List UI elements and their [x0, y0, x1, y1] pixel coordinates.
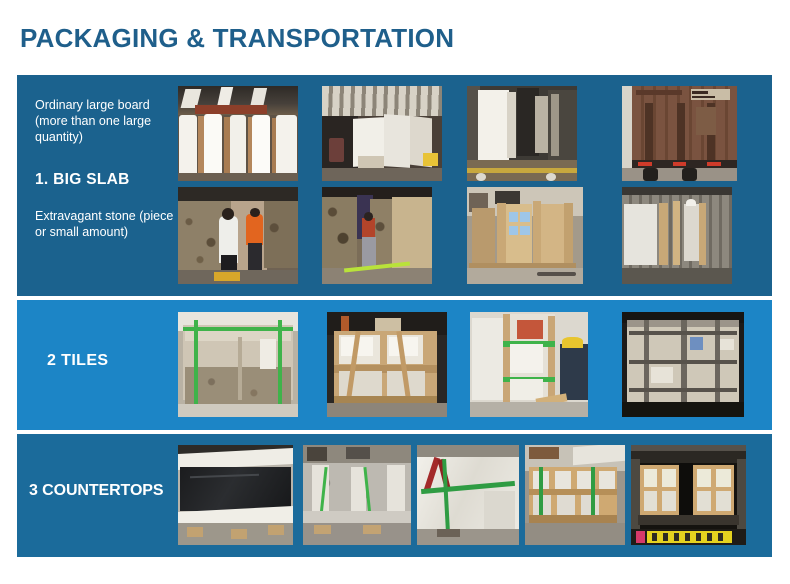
photo-big-slab-warehouse	[178, 86, 298, 181]
photo-big-slab-workers-inspect	[178, 187, 298, 284]
photo-big-slab-wooden-crates	[467, 187, 583, 284]
photo-countertops-wooden-crates	[525, 445, 625, 545]
section-countertops: 3 COUNTERTOPS	[17, 434, 772, 557]
section-big-slab: Ordinary large board (more than one larg…	[17, 75, 772, 296]
big-slab-caption-bottom: Extravagant stone (piece or small amount…	[35, 208, 175, 240]
photo-tiles-strapped-bundle	[178, 312, 298, 417]
photo-countertops-in-container	[631, 445, 746, 545]
packaging-panel: Ordinary large board (more than one larg…	[17, 75, 772, 557]
tiles-heading: 2 TILES	[47, 352, 177, 370]
section-tiles: 2 TILES	[17, 300, 772, 430]
photo-big-slab-loading-truck	[322, 86, 442, 181]
tiles-label-column: 2 TILES	[17, 300, 177, 430]
countertops-label-column: 3 COUNTERTOPS	[17, 434, 177, 557]
countertops-heading: 3 COUNTERTOPS	[29, 482, 189, 500]
photo-big-slab-container-rear	[622, 86, 737, 181]
photo-countertops-grey-strapped	[303, 445, 411, 545]
photo-big-slab-worker-container	[622, 187, 732, 284]
big-slab-label-column: Ordinary large board (more than one larg…	[17, 75, 177, 296]
big-slab-heading: 1. BIG SLAB	[35, 171, 175, 189]
big-slab-caption-top: Ordinary large board (more than one larg…	[35, 97, 175, 145]
photo-tiles-loading-crate	[470, 312, 588, 417]
photo-tiles-inside-container	[622, 312, 744, 417]
photo-tiles-pallet-crates	[327, 312, 447, 417]
page-title: PACKAGING & TRANSPORTATION	[20, 23, 454, 54]
photo-big-slab-slab-yard	[322, 187, 432, 284]
photo-big-slab-in-container	[467, 86, 577, 181]
photo-countertops-wrapped-bundle	[417, 445, 519, 545]
photo-countertops-black-slab	[178, 445, 293, 545]
